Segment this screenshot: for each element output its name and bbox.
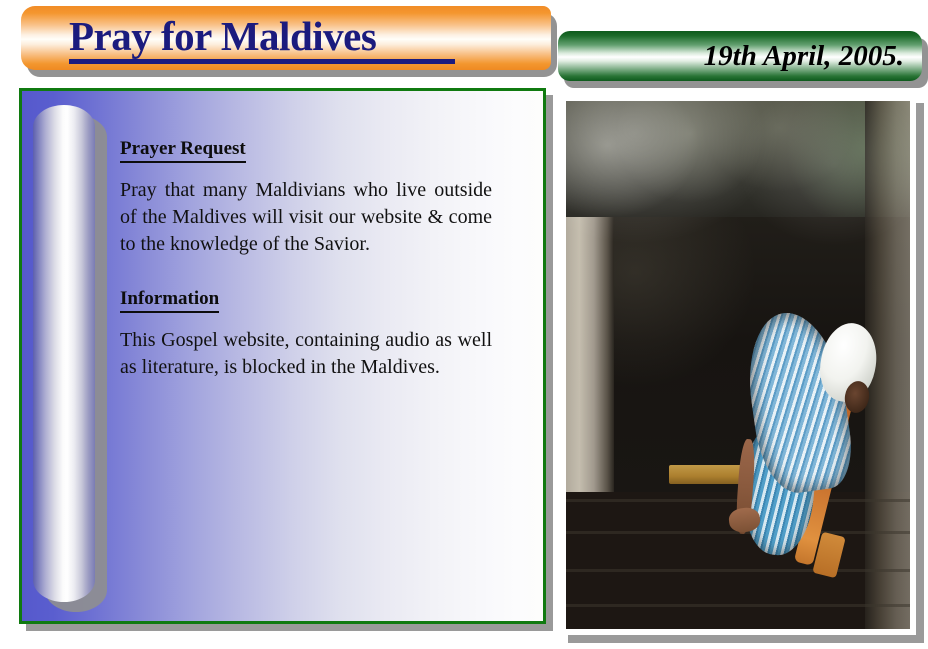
section-body-prayer-request: Pray that many Maldivians who live outsi… [120,177,492,258]
date-label: 19th April, 2005. [704,38,904,74]
photo-step-edge [566,569,910,572]
title-underline [69,59,455,64]
section-spacer [120,258,492,288]
photo-layer-left-pillar [566,217,614,492]
photo-step-edge [566,604,910,607]
date-banner: 19th April, 2005. [558,31,922,81]
section-heading-prayer-request: Prayer Request [120,138,246,163]
section-heading-information: Information [120,288,219,313]
photo-sweeping-person [566,101,910,629]
slide-canvas: Pray for Maldives 19th April, 2005. Pray… [0,0,928,649]
page-title: Pray for Maldives [69,12,376,60]
chrome-cylinder-decoration [33,105,95,602]
photo-frame [560,95,916,635]
section-body-information: This Gospel website, containing audio as… [120,327,492,381]
title-banner: Pray for Maldives [21,6,551,70]
content-text-block: Prayer Request Pray that many Maldivians… [120,138,492,381]
